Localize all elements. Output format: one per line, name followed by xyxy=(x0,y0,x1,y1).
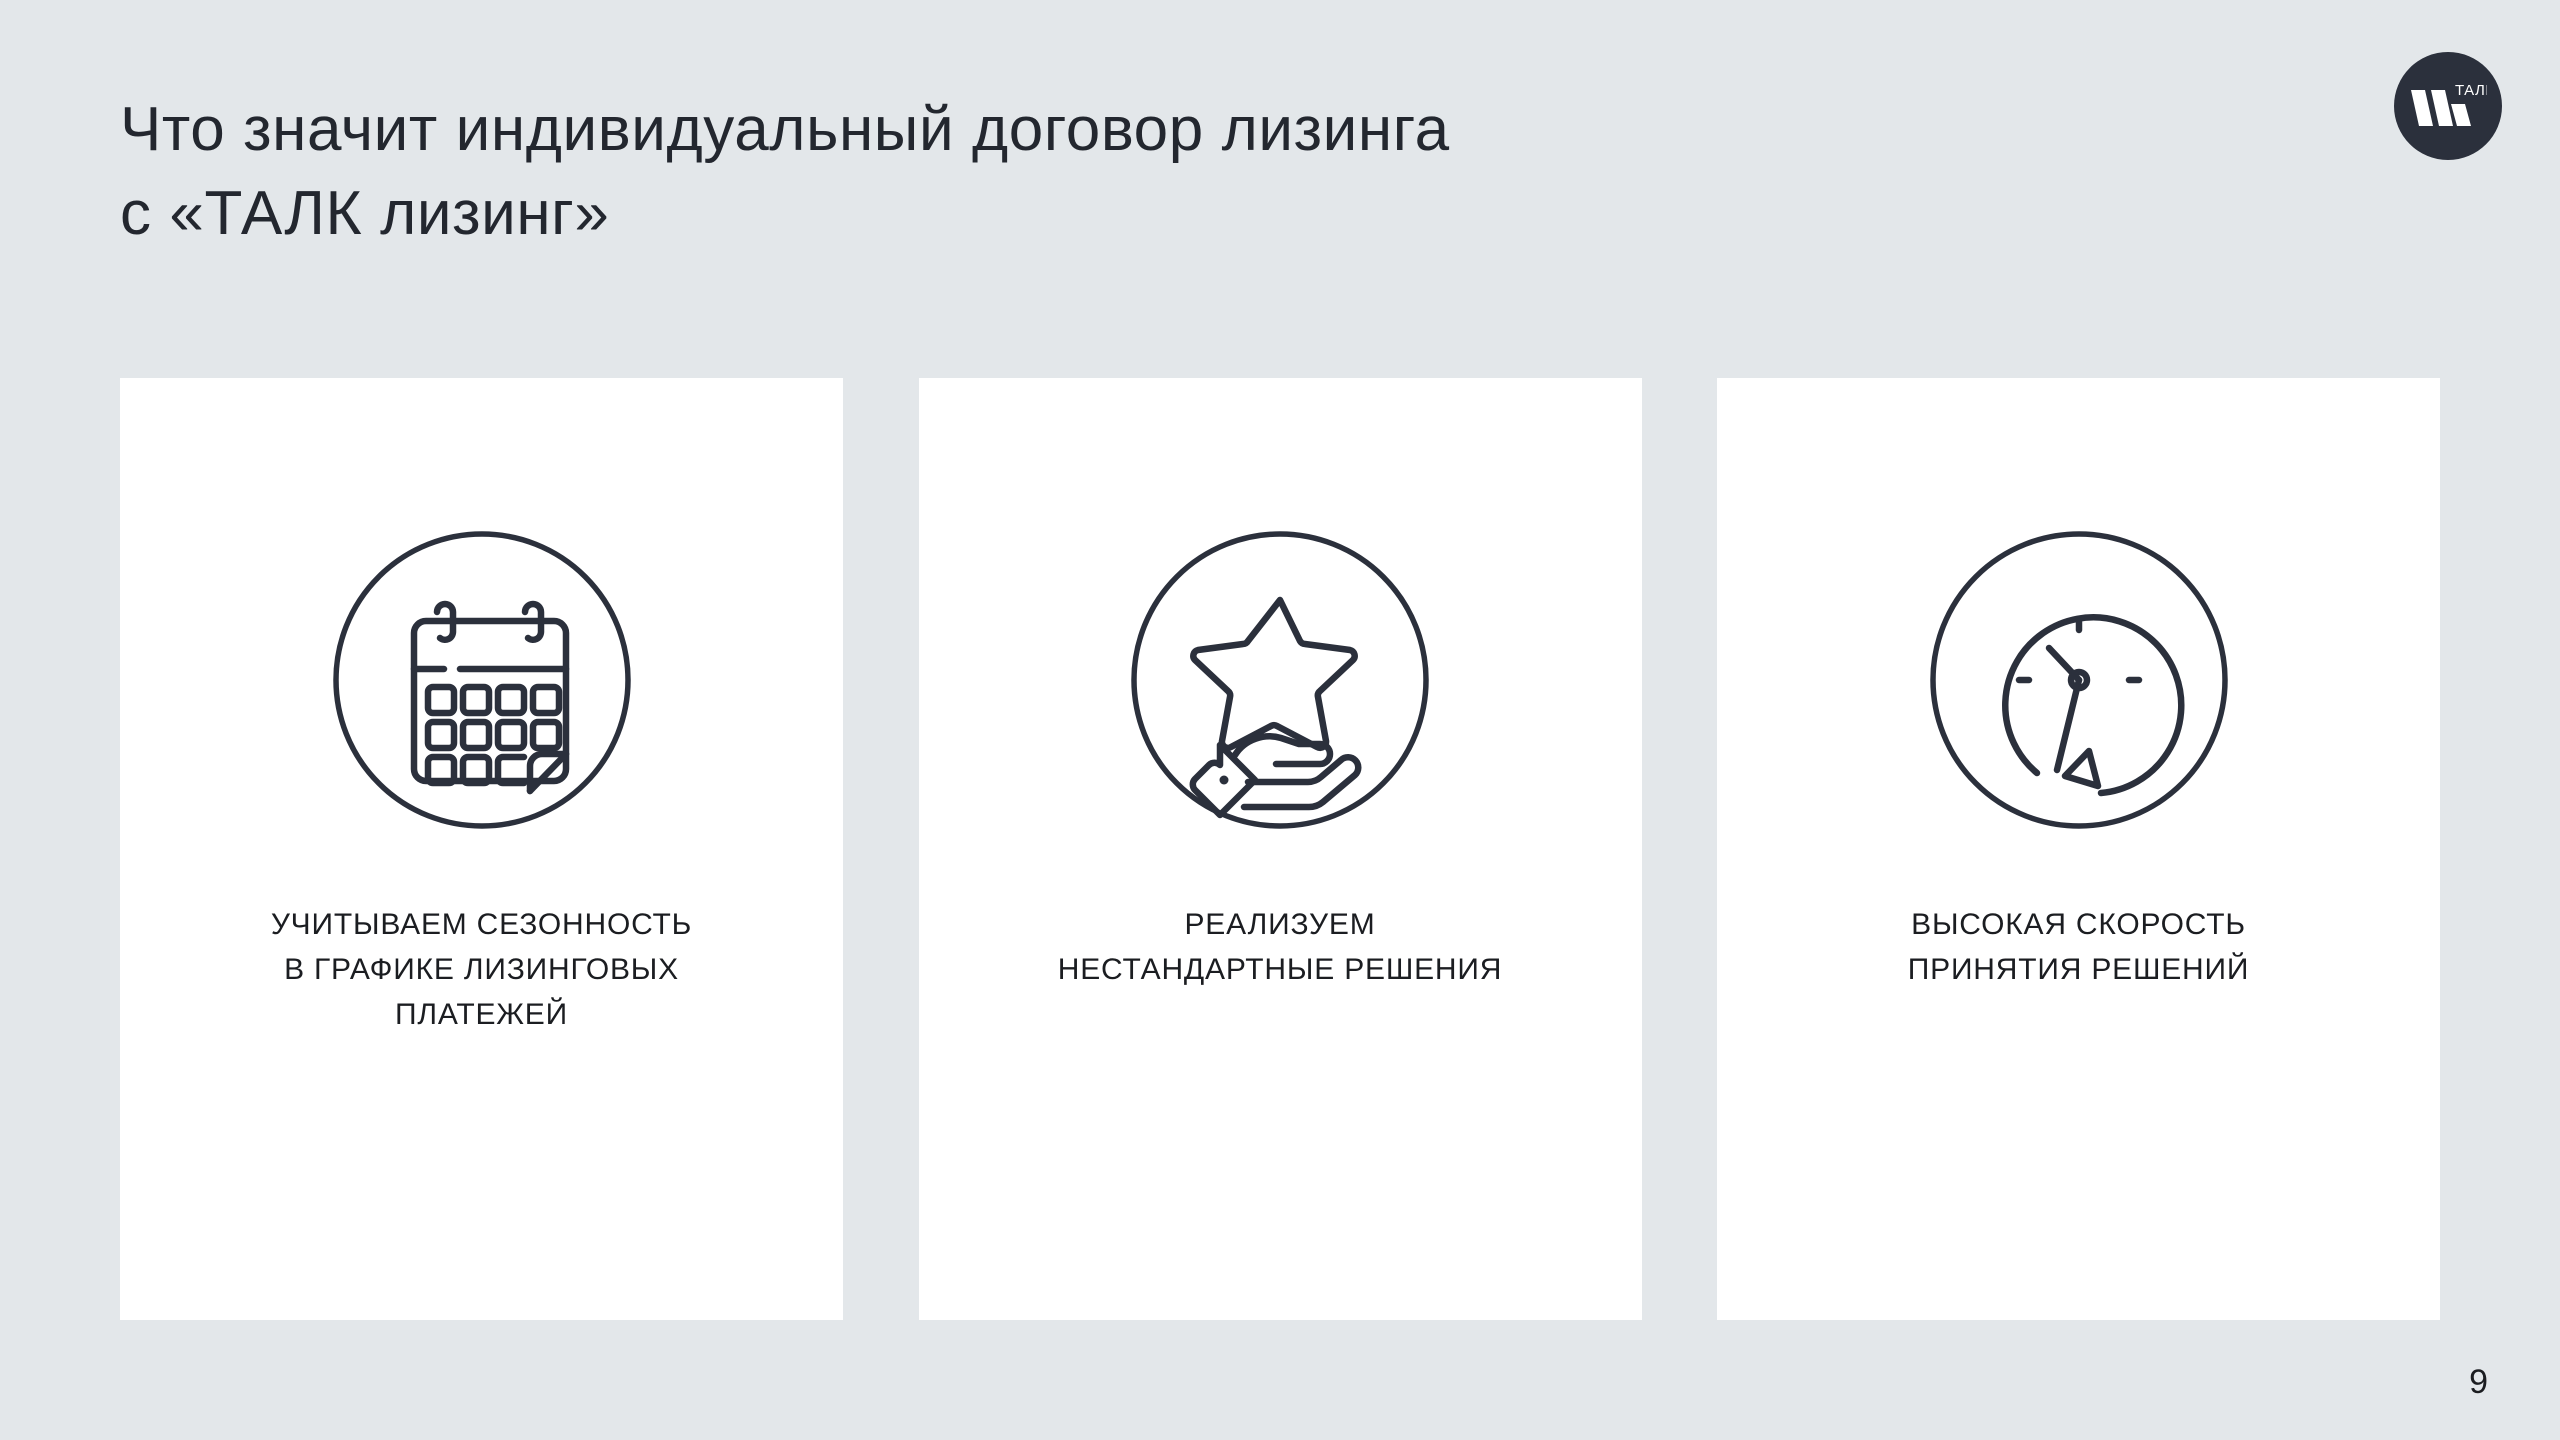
title-line-2: с «ТАЛК лизинг» xyxy=(120,172,2020,256)
svg-text:ТАЛК: ТАЛК xyxy=(2455,82,2487,99)
calendar-icon xyxy=(332,530,632,830)
talk-logo: ТАЛК xyxy=(2394,52,2502,160)
feature-card-row: УЧИТЫВАЕМ СЕЗОННОСТЬ В ГРАФИКЕ ЛИЗИНГОВЫ… xyxy=(120,378,2440,1320)
clock-speed-icon xyxy=(1929,530,2229,830)
feature-card-caption: РЕАЛИЗУЕМ НЕСТАНДАРТНЫЕ РЕШЕНИЯ xyxy=(960,902,1600,992)
star-in-hand-icon xyxy=(1130,530,1430,830)
feature-card-caption: УЧИТЫВАЕМ СЕЗОННОСТЬ В ГРАФИКЕ ЛИЗИНГОВЫ… xyxy=(162,902,802,1037)
slide: Что значит индивидуальный договор лизинг… xyxy=(0,0,2560,1440)
feature-card: УЧИТЫВАЕМ СЕЗОННОСТЬ В ГРАФИКЕ ЛИЗИНГОВЫ… xyxy=(120,378,843,1320)
feature-card: ВЫСОКАЯ СКОРОСТЬ ПРИНЯТИЯ РЕШЕНИЙ xyxy=(1717,378,2440,1320)
page-title: Что значит индивидуальный договор лизинг… xyxy=(120,88,2020,256)
page-number: 9 xyxy=(2469,1362,2488,1402)
feature-card-caption: ВЫСОКАЯ СКОРОСТЬ ПРИНЯТИЯ РЕШЕНИЙ xyxy=(1759,902,2399,992)
title-line-1: Что значит индивидуальный договор лизинг… xyxy=(120,88,2020,172)
feature-card: РЕАЛИЗУЕМ НЕСТАНДАРТНЫЕ РЕШЕНИЯ xyxy=(919,378,1642,1320)
